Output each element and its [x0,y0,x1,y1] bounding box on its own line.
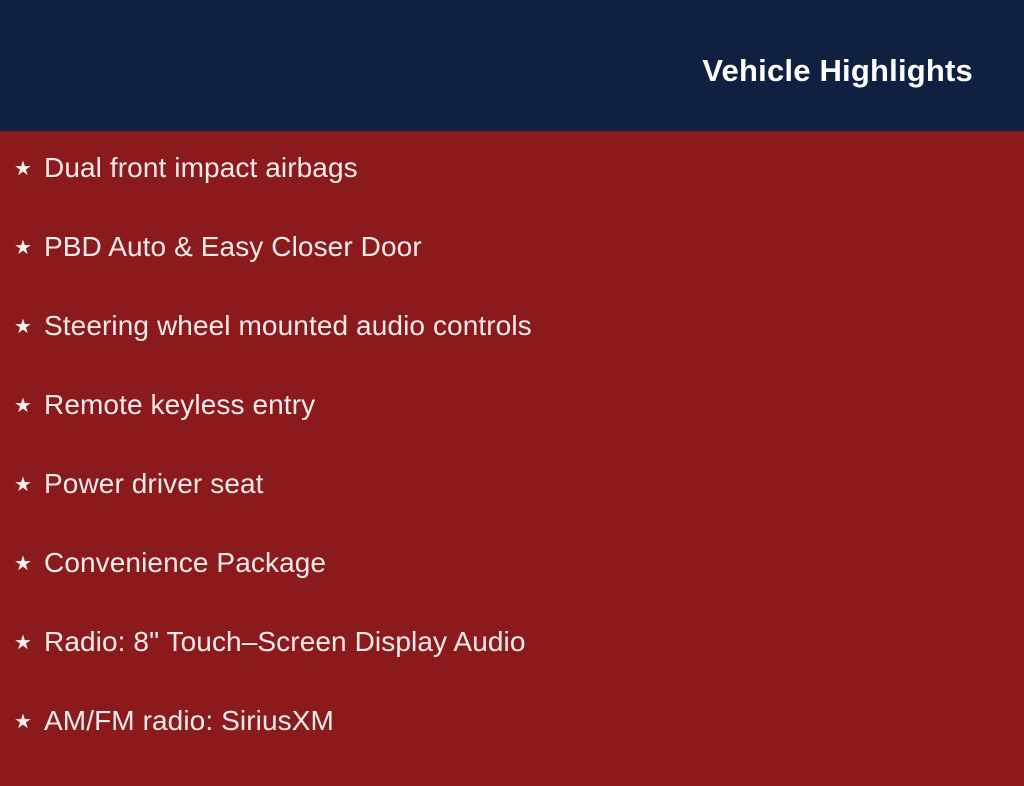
list-item-label: Remote keyless entry [44,391,984,419]
list-item-label: AM/FM radio: SiriusXM [44,707,984,735]
list-item: ★ Convenience Package [14,549,984,628]
list-item: ★ Power driver seat [14,470,984,549]
list-item-label: PBD Auto & Easy Closer Door [44,233,984,261]
star-bullet-icon: ★ [14,159,44,179]
star-bullet-icon: ★ [14,238,44,258]
list-item-label: Radio: 8" Touch–Screen Display Audio [44,628,984,656]
list-item: ★ AM/FM radio: SiriusXM [14,707,984,786]
slide-body: ★ Dual front impact airbags ★ PBD Auto &… [0,131,1024,786]
list-item: ★ Radio: 8" Touch–Screen Display Audio [14,628,984,707]
vehicle-highlights-slide: Vehicle Highlights ★ Dual front impact a… [0,0,1024,768]
list-item-label: Steering wheel mounted audio controls [44,312,984,340]
list-item: ★ Dual front impact airbags [14,154,984,233]
star-bullet-icon: ★ [14,317,44,337]
star-bullet-icon: ★ [14,475,44,495]
list-item-label: Power driver seat [44,470,984,498]
star-bullet-icon: ★ [14,712,44,732]
star-bullet-icon: ★ [14,554,44,574]
page-title: Vehicle Highlights [702,55,973,86]
vehicle-highlights-list: ★ Dual front impact airbags ★ PBD Auto &… [14,154,984,786]
list-item-label: Dual front impact airbags [44,154,984,182]
star-bullet-icon: ★ [14,396,44,416]
list-item: ★ Remote keyless entry [14,391,984,470]
list-item: ★ PBD Auto & Easy Closer Door [14,233,984,312]
slide-header: Vehicle Highlights [0,0,1024,131]
star-bullet-icon: ★ [14,633,44,653]
list-item-label: Convenience Package [44,549,984,577]
list-item: ★ Steering wheel mounted audio controls [14,312,984,391]
